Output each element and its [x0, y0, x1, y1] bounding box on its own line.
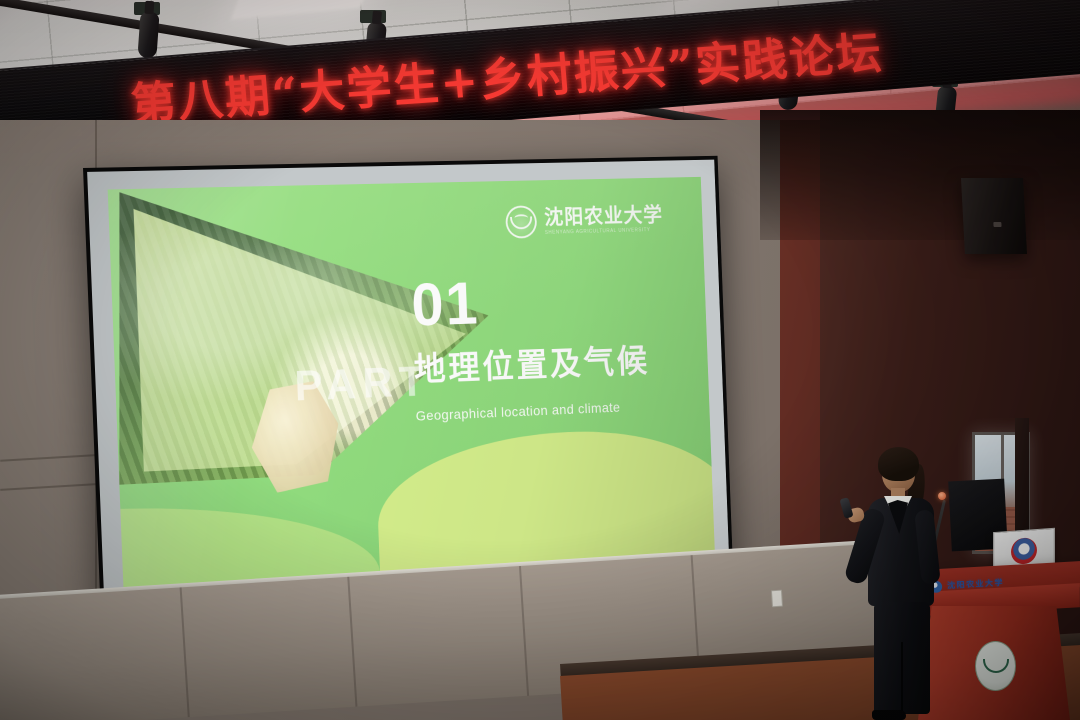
slide-title-en: Geographical location and climate — [415, 399, 620, 423]
slide-part-watermark: PART — [294, 357, 432, 411]
slide-university-logo: 沈阳农业大学 SHENYANG AGRICULTURAL UNIVERSITY — [506, 202, 664, 238]
screen-frame: PART 沈阳农业大学 SHENYANG AGRICULTURAL UNIVER… — [83, 156, 733, 620]
lecture-hall-photo: 第八期“大学生+乡村振兴”实践论坛 PART — [0, 0, 1080, 720]
projection-screen: PART 沈阳农业大学 SHENYANG AGRICULTURAL UNIVER… — [83, 156, 733, 620]
podium-emblem-inner — [983, 659, 1009, 673]
university-name-cn: 沈阳农业大学 — [544, 204, 663, 227]
presenter-shoes — [872, 710, 906, 720]
wainscot-seam-2 — [347, 577, 357, 707]
university-emblem-icon — [506, 205, 538, 238]
presenter-trouser-seam — [901, 642, 903, 714]
wainscot-seam-1 — [180, 587, 190, 717]
slide-title-cn: 地理位置及气候 — [413, 345, 650, 387]
podium-emblem-icon — [975, 641, 1016, 691]
presenter-hair — [878, 447, 919, 481]
light-switch-plate[interactable] — [771, 590, 783, 608]
presenter — [856, 452, 966, 720]
slide-section-number: 01 — [410, 274, 480, 336]
slide-hill-right — [375, 424, 715, 573]
screen-mat: PART 沈阳农业大学 SHENYANG AGRICULTURAL UNIVER… — [87, 160, 730, 616]
track-spotlight-1 — [137, 11, 159, 58]
presentation-slide: PART 沈阳农业大学 SHENYANG AGRICULTURAL UNIVER… — [108, 177, 715, 588]
right-wall-top-shadow — [760, 110, 1080, 240]
wainscot-seam-3 — [519, 566, 529, 696]
laptop-sticker-icon — [1011, 537, 1037, 565]
wall-speaker — [961, 178, 1027, 254]
